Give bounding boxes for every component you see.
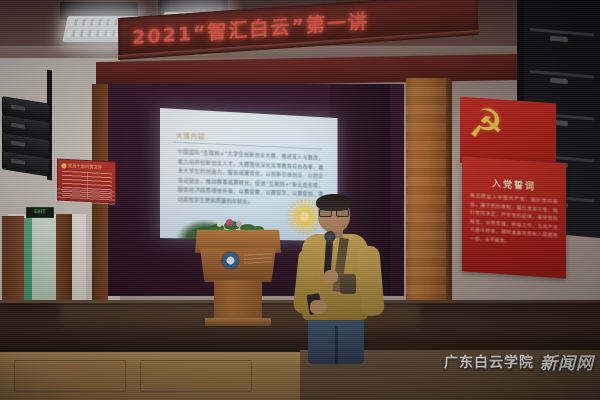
wall-poster-left-title: 党员干部问责文件 [68,163,102,171]
podium-inscription [244,253,272,264]
slide-divider [174,142,322,150]
party-oath-body: 我志愿加入中国共产党，拥护党的纲领，遵守党的章程，履行党员义务，执行党的决定，严… [470,193,558,251]
stage-front-moulding [14,360,126,392]
glasses-icon [319,209,349,215]
wood-pilaster-edge [446,78,452,303]
speaker-hand-right [324,270,338,283]
line-array-speaker-icon [2,66,54,184]
podium-base [214,280,262,322]
party-oath-poster: 入党誓词 我志愿加入中国共产党，拥护党的纲领，遵守党的章程，履行党员义务，执行党… [462,156,566,278]
hammer-and-sickle-icon: ☭ [468,103,512,150]
watermark-site: 新闻网 [540,349,594,374]
slide-title: 大赛内容 [176,131,205,142]
wall-poster-strip [55,188,115,207]
speaker-pouch [340,274,356,294]
speaker-hand-left [310,300,326,314]
party-oath-title: 入党誓词 [462,174,566,194]
party-emblem-icon [61,163,67,169]
exit-sign: EXIT [26,207,54,218]
watermark: 广东白云学院 新闻网 [444,349,594,374]
stage-front-moulding [140,360,252,392]
photo-scene: 2021“智汇白云”第一讲 大赛内容 中国国际“互联网+”大学生创新创业大赛，推… [0,0,600,400]
school-seal-icon [222,252,239,269]
speaker-person [296,196,380,361]
exit-sign-label: EXIT [34,210,46,215]
watermark-institution: 广东白云学院 [444,352,534,372]
wood-pilaster [406,78,446,303]
podium-foot [205,318,271,326]
